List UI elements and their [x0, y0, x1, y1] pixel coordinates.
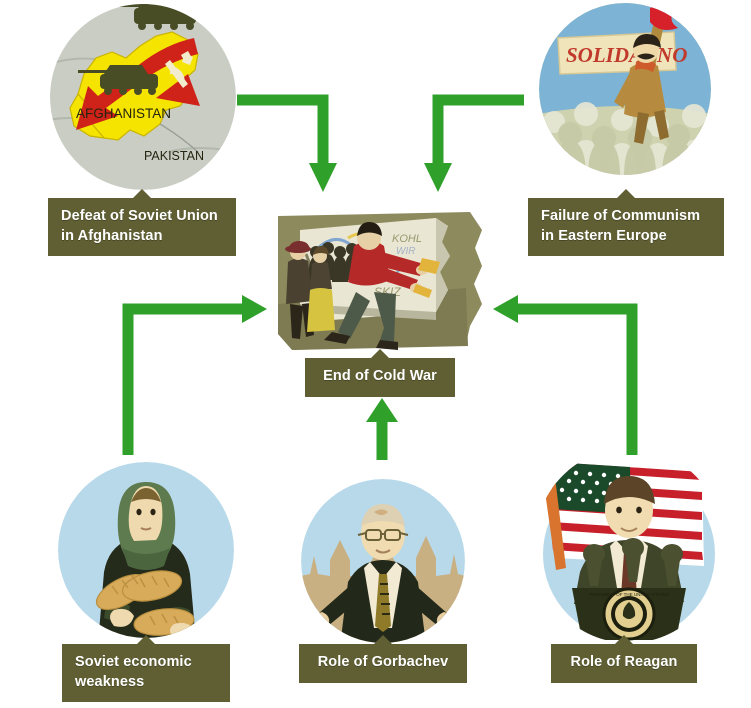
seal-text: PRESIDENT OF THE UNITED STATES: [589, 592, 668, 597]
label-pointer: [374, 635, 392, 644]
node-label-afghanistan-line1: Defeat of Soviet Union: [61, 207, 223, 227]
label-pointer: [371, 349, 389, 358]
node-label-soviet-economy-line1: Soviet economic: [75, 653, 217, 673]
node-label-gorbachev: Role of Gorbachev: [299, 644, 467, 683]
label-pointer: [615, 635, 633, 644]
node-label-reagan: Role of Reagan: [551, 644, 697, 683]
center-label-text: End of Cold War: [318, 367, 442, 387]
node-image-reagan: PRESIDENT OF THE UNITED STATES: [534, 448, 724, 643]
reagan-at-podium-illustration-icon: PRESIDENT OF THE UNITED STATES: [534, 448, 724, 643]
node-label-center: End of Cold War: [305, 358, 455, 397]
arrow-reagan-to-center: [493, 295, 638, 455]
node-label-afghanistan: Defeat of Soviet Union in Afghanistan: [48, 198, 236, 256]
node-image-gorbachev: [300, 478, 466, 644]
woman-with-bread-loaves-illustration-icon: [56, 460, 236, 640]
arrow-eastern-europe-to-center: [414, 95, 524, 195]
svg-text:WIR: WIR: [396, 246, 415, 257]
label-pointer: [133, 189, 151, 198]
node-label-eastern-europe-line1: Failure of Communism: [541, 207, 711, 227]
center-image-berlin-wall: KOHL WIR SKIZ: [270, 208, 485, 358]
map-label-pakistan: PAKISTAN: [144, 149, 204, 163]
label-pointer: [137, 635, 155, 644]
gorbachev-illustration-icon: [300, 478, 466, 644]
node-label-gorbachev-line1: Role of Gorbachev: [312, 653, 454, 673]
arrow-gorbachev-to-center: [362, 398, 402, 460]
node-label-afghanistan-line2: in Afghanistan: [61, 227, 223, 247]
node-label-eastern-europe: Failure of Communism in Eastern Europe: [528, 198, 724, 256]
banner-text: SOLIDARNO: [566, 43, 687, 67]
afghanistan-soviet-invasion-map-icon: AFGHANISTAN PAKISTAN: [48, 2, 238, 192]
node-image-eastern-europe: SOLIDARNO: [538, 2, 713, 177]
arrow-afghanistan-to-center: [237, 95, 337, 195]
graffiti-text: KOHL: [392, 233, 422, 245]
arrow-soviet-economy-to-center: [122, 295, 267, 455]
label-pointer: [617, 189, 635, 198]
diagram-canvas: AFGHANISTAN PAKISTAN Defeat of Soviet Un…: [0, 0, 751, 708]
node-label-soviet-economy: Soviet economic weakness: [62, 644, 230, 702]
node-label-reagan-line1: Role of Reagan: [564, 653, 684, 673]
node-label-eastern-europe-line2: in Eastern Europe: [541, 227, 711, 247]
node-image-soviet-economy: [56, 460, 236, 640]
solidarnosc-protest-illustration-icon: SOLIDARNO: [538, 2, 713, 177]
map-label-afghanistan: AFGHANISTAN: [76, 106, 171, 121]
berlin-wall-demolition-illustration-icon: KOHL WIR SKIZ: [270, 208, 485, 358]
node-label-soviet-economy-line2: weakness: [75, 673, 217, 693]
node-image-afghanistan: AFGHANISTAN PAKISTAN: [48, 2, 238, 192]
